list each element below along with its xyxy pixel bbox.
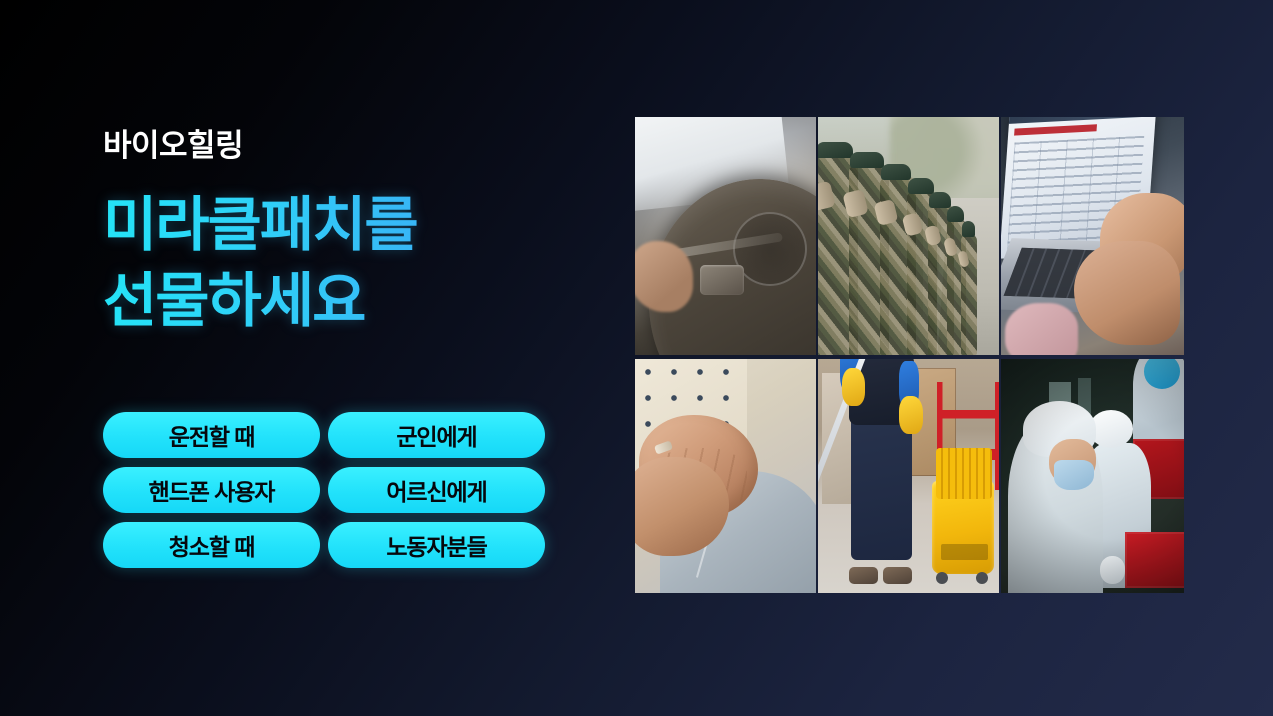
factory-vignette [1001, 359, 1184, 593]
tag-phone-user[interactable]: 핸드폰 사용자 [103, 467, 320, 513]
photo-elderly [635, 359, 816, 593]
promo-banner: 바이오힐링 미라클패치를 선물하세요 운전할 때 군인에게 핸드폰 사용자 어르… [0, 0, 1273, 716]
tag-label: 청소할 때 [169, 528, 255, 562]
tag-elderly[interactable]: 어르신에게 [328, 467, 545, 513]
tag-driving[interactable]: 운전할 때 [103, 412, 320, 458]
pink-sleeve [1005, 303, 1078, 355]
yellow-glove-left [842, 368, 866, 405]
photo-soldiers [818, 117, 999, 355]
page-title: 미라클패치를 선물하세요 [103, 187, 573, 339]
photo-laptop [1001, 117, 1184, 355]
bucket-caster-right [976, 572, 988, 584]
bucket-caster-left [936, 572, 948, 584]
photo-cleaner-art [818, 359, 999, 593]
photo-cleaner [818, 359, 999, 593]
headline-line-2: 선물하세요 [103, 263, 573, 339]
yellow-glove-right [899, 396, 923, 433]
headline-line-1: 미라클패치를 [103, 187, 573, 263]
screen-highlight-bar [1014, 124, 1097, 136]
photo-elderly-art [635, 359, 816, 593]
tag-cleaning[interactable]: 청소할 때 [103, 522, 320, 568]
copy-block: 바이오힐링 미라클패치를 선물하세요 [103, 128, 573, 339]
tag-label: 핸드폰 사용자 [149, 473, 275, 507]
screen-toolbar [1009, 117, 1157, 125]
steering-wheel-hub [700, 265, 744, 295]
photo-driving-art [635, 117, 816, 355]
photo-factory [1001, 359, 1184, 593]
bucket-wringer [936, 448, 992, 499]
bucket-caution-label [941, 544, 988, 560]
soldier-figure [961, 234, 977, 355]
tag-label: 군인에게 [396, 418, 476, 452]
tag-label: 노동자분들 [386, 528, 486, 562]
tag-label: 운전할 때 [169, 418, 255, 452]
photo-soldiers-art [818, 117, 999, 355]
cleaner-shoe-left [849, 567, 878, 583]
cleaner-shoe-right [883, 567, 912, 583]
photo-laptop-art [1001, 117, 1184, 355]
brand-eyebrow: 바이오힐링 [103, 128, 573, 165]
photo-driving [635, 117, 816, 355]
tag-laborer[interactable]: 노동자분들 [328, 522, 545, 568]
tag-label: 어르신에게 [386, 473, 486, 507]
tag-grid: 운전할 때 군인에게 핸드폰 사용자 어르신에게 청소할 때 노동자분들 [103, 412, 545, 568]
typing-hand-left [1074, 241, 1180, 346]
tag-soldier[interactable]: 군인에게 [328, 412, 545, 458]
photo-collage [635, 117, 1184, 593]
photo-factory-art [1001, 359, 1184, 593]
